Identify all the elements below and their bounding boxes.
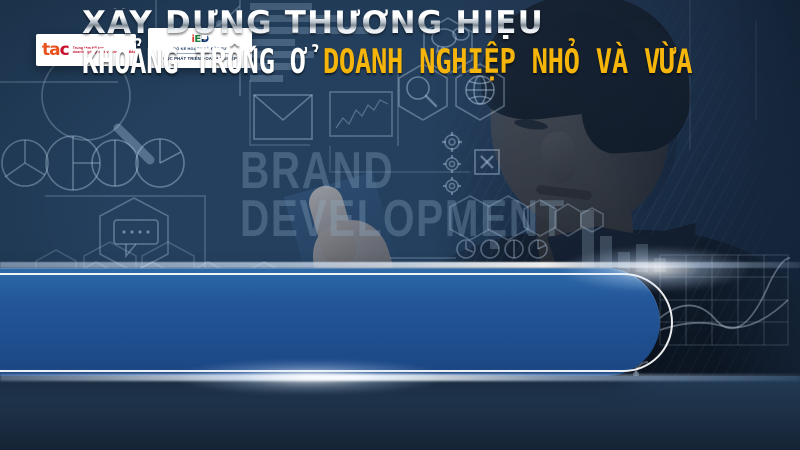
tac-mark-accent: c <box>60 40 69 60</box>
headline-line-2-white: KHOẢNG TRỐNG Ở <box>82 42 323 82</box>
tac-mark-letters: ta <box>42 40 60 60</box>
headline-text-group: XÂY DỰNG THƯƠNG HIỆU KHOẢNG TRỐNG Ở DOAN… <box>82 8 682 79</box>
tac-logo-mark: tac <box>42 42 69 59</box>
headline-line-1: XÂY DỰNG THƯƠNG HIỆU <box>82 8 682 39</box>
banner-canvas: BRAND DEVELOPMENT tac Trung tâm Hỗ trợ d… <box>0 0 800 450</box>
headline-line-2-gold: DOANH NGHIỆP NHỎ VÀ VỪA <box>323 42 692 82</box>
banner-glow-burst-bottom <box>180 360 440 394</box>
banner-glow-burst-right <box>560 246 750 292</box>
headline-line-2: KHOẢNG TRỐNG Ở DOANH NGHIỆP NHỎ VÀ VỪA <box>82 45 562 79</box>
